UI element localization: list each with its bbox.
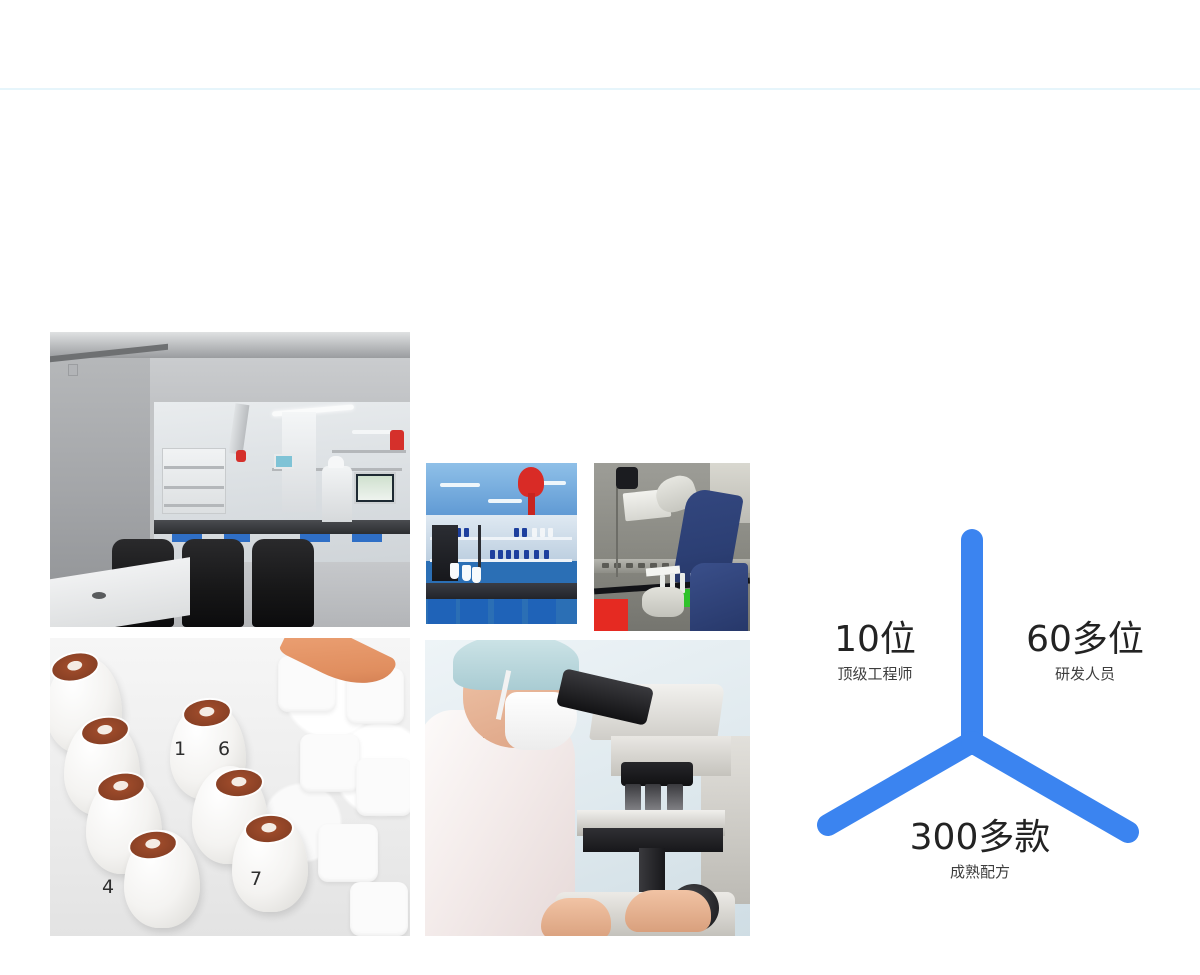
technician-hand-left <box>541 898 611 936</box>
white-bottle <box>548 528 553 537</box>
blue-bottle <box>544 550 549 559</box>
egg-number-label: 4 <box>102 876 114 898</box>
stat-label: 成熟配方 <box>880 861 1080 883</box>
foam-cell <box>318 824 378 882</box>
blue-cabinet <box>494 599 522 624</box>
lab-technician-cap <box>328 456 344 468</box>
y-branch-icon <box>800 520 1160 860</box>
shelf <box>332 450 406 453</box>
bench-drawer <box>352 534 382 542</box>
top-divider <box>0 88 1200 90</box>
red-tube-rack <box>594 599 628 631</box>
rail-slot <box>602 563 609 568</box>
photo-lab-observation-window <box>50 332 410 627</box>
photo-blue-lab-bench <box>426 463 577 624</box>
blue-bottle <box>524 550 529 559</box>
technician-hand-right <box>625 890 711 932</box>
blue-bottle <box>522 528 527 537</box>
lab-technician-figure <box>322 466 352 522</box>
shelf <box>164 486 224 489</box>
wash-bottle <box>450 563 459 579</box>
blue-bottle <box>506 550 511 559</box>
stat-value: 60多位 <box>995 620 1175 660</box>
egg-number-label: 7 <box>250 868 262 890</box>
rail-slot <box>638 563 645 568</box>
foam-cell <box>350 882 408 936</box>
wall-plate <box>68 364 78 376</box>
photo-microscope-technician <box>425 640 750 936</box>
stat-rd-staff: 60多位 研发人员 <box>995 620 1175 685</box>
blue-cabinet <box>460 599 488 624</box>
probe-wire <box>616 487 618 577</box>
wash-bottle <box>462 565 471 581</box>
blue-bottle <box>498 550 503 559</box>
egg-number-label: 6 <box>218 738 230 760</box>
white-bottle <box>532 528 537 537</box>
blue-cabinet <box>528 599 556 624</box>
red-valve-icon <box>236 450 246 462</box>
microscope-nosepiece <box>621 762 693 786</box>
stat-label: 研发人员 <box>995 663 1175 685</box>
blue-bottle <box>534 550 539 559</box>
monitor-screen <box>358 476 392 500</box>
office-chair <box>182 539 244 627</box>
foam-cell <box>356 758 410 816</box>
white-bottle <box>540 528 545 537</box>
y-left-arm <box>828 742 972 825</box>
ceiling-tube-light-icon <box>352 430 392 434</box>
capability-y-diagram <box>800 520 1160 860</box>
blue-bottle <box>464 528 469 537</box>
blue-bottle <box>514 550 519 559</box>
black-lab-bench <box>426 583 577 599</box>
shelf <box>164 504 224 507</box>
stat-value: 300多款 <box>880 818 1080 858</box>
blue-cabinet <box>428 599 456 624</box>
stat-top-engineers: 10位 顶级工程师 <box>790 620 960 685</box>
stat-value: 10位 <box>790 620 960 660</box>
ceiling <box>426 463 577 521</box>
computer-monitor <box>354 472 396 504</box>
protective-gown-arm-lower <box>690 563 748 631</box>
rail-slot <box>626 563 633 568</box>
red-pipe-icon <box>390 430 404 452</box>
foam-cell <box>300 734 360 792</box>
table-cable-grommet <box>92 592 106 599</box>
gloved-hand-lower <box>642 587 684 617</box>
page-root: 1 6 4 7 <box>0 0 1200 975</box>
blue-bottle <box>514 528 519 537</box>
wash-bottle <box>472 567 481 583</box>
photo-numbered-eggs-foam-tray: 1 6 4 7 <box>50 638 410 936</box>
red-fixture-stem <box>528 493 535 515</box>
photo-gloved-hands-fume-hood <box>594 463 750 631</box>
stat-label: 顶级工程师 <box>790 663 960 685</box>
wall-display-panel <box>276 456 292 467</box>
lab-bench <box>154 520 410 534</box>
stat-mature-formulas: 300多款 成熟配方 <box>880 818 1080 883</box>
ceiling-lamp-icon <box>440 483 480 487</box>
office-chair <box>252 539 314 627</box>
instrument-head <box>616 467 638 489</box>
ceiling-lamp-icon <box>488 499 522 503</box>
shelf <box>164 466 224 469</box>
blue-bottle <box>490 550 495 559</box>
egg-number-label: 1 <box>174 738 186 760</box>
